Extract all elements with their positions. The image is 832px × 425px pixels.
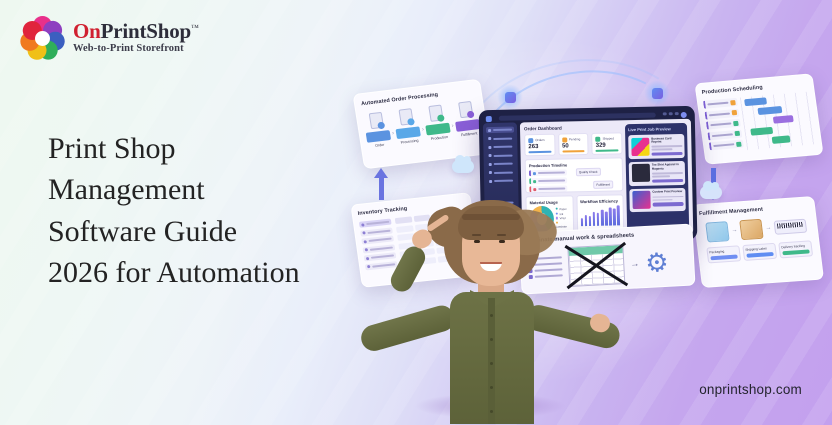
brand-name: OnPrintShop™ <box>73 21 199 42</box>
flow-step[interactable]: Order <box>363 111 392 148</box>
tag-label: Delivery tracking <box>781 244 808 250</box>
document-icon <box>368 112 383 129</box>
bullet-icon <box>361 223 364 226</box>
sidebar-item-dashboard[interactable] <box>486 127 514 134</box>
document-icon <box>458 101 473 118</box>
shipped-icon <box>596 136 601 141</box>
machine-row[interactable] <box>709 139 744 150</box>
stat-card-shipped[interactable]: Shipped 329 <box>591 132 622 155</box>
card-fulfillment-management[interactable]: Fulfillment Management → → Packaging Shi… <box>692 196 824 288</box>
machine-row[interactable] <box>704 108 739 119</box>
machine-row[interactable] <box>706 119 741 130</box>
brand-name-suffix: PrintShop <box>101 19 191 43</box>
brand-logo[interactable]: OnPrintShop™ Web-to-Print Storefront <box>20 16 199 60</box>
tag-label: Packaging <box>709 249 736 255</box>
workflow-icon <box>488 137 491 140</box>
tag-packaging[interactable]: Packaging <box>706 245 741 263</box>
orders-icon <box>528 138 533 143</box>
step-label: Processing <box>397 138 421 145</box>
brand-name-prefix: On <box>73 19 101 43</box>
left-arm <box>358 303 457 354</box>
pending-icon <box>562 137 567 142</box>
tag-shipping-label[interactable]: Shipping Label <box>742 243 777 261</box>
sidebar-item-reports[interactable] <box>487 178 515 185</box>
cap-thumb <box>632 191 650 209</box>
stat-value: 329 <box>596 142 619 148</box>
bell-icon[interactable] <box>663 112 667 116</box>
timeline-node-prepress[interactable] <box>529 170 567 177</box>
document-icon <box>398 108 413 125</box>
cloud-upload-icon <box>452 160 474 173</box>
status-chip <box>734 131 740 136</box>
status-chip <box>736 141 742 146</box>
messages-icon[interactable] <box>669 112 673 116</box>
card-title: Fulfillment Management <box>699 203 810 217</box>
step-label: Production <box>427 135 451 142</box>
stat-label: Pending <box>569 137 585 141</box>
dashboard-icon <box>488 129 491 132</box>
machine-row[interactable] <box>707 129 742 140</box>
sidebar-item-inventory[interactable] <box>487 152 515 159</box>
status-chip <box>730 100 736 105</box>
package-box-icon <box>739 219 763 240</box>
network-node-icon <box>497 84 523 110</box>
step-bar <box>395 126 420 139</box>
view-details-button[interactable] <box>652 179 683 183</box>
job-title: Custom Print Preview <box>652 190 683 194</box>
gantt-chart <box>740 92 816 150</box>
status-chip <box>733 120 739 125</box>
stat-card-pending[interactable]: Pending 50 <box>558 133 589 156</box>
settings-icon[interactable] <box>675 112 679 116</box>
step-bar <box>425 123 450 136</box>
timeline-node-printing[interactable] <box>529 178 567 185</box>
status-chip <box>732 110 738 115</box>
flow-step[interactable]: Processing <box>393 108 422 145</box>
production-icon <box>489 163 492 166</box>
barcode-icon <box>777 222 804 229</box>
box-open-icon <box>705 221 729 242</box>
headline-line-4: 2026 for Automation <box>48 252 388 293</box>
job-title: Tee Shirt Apparel in Magenta <box>652 163 683 171</box>
arrow-right-icon: → <box>765 225 772 231</box>
network-node-icon <box>644 80 670 106</box>
view-details-button[interactable] <box>652 152 683 156</box>
flow-step[interactable]: Fulfillment <box>452 100 481 137</box>
timeline-chip-quality-check[interactable]: Quality Check <box>576 168 601 177</box>
stat-value: 50 <box>562 143 585 149</box>
job-title: Business Card Reprint <box>651 137 682 145</box>
machine-row[interactable] <box>703 98 738 109</box>
site-url[interactable]: onprintshop.com <box>699 382 802 397</box>
stat-cards: Orders 263 Pending 50 Shipped 329 <box>524 132 622 156</box>
eye <box>474 240 480 243</box>
shipping-icon <box>489 171 492 174</box>
document-icon <box>428 105 443 122</box>
job-card[interactable]: Business Card Reprint <box>628 134 684 159</box>
panel-live-print-job-preview: Live Print Job Preview Business Card Rep… <box>625 123 689 231</box>
job-card[interactable]: Custom Print Preview <box>629 188 685 212</box>
headline-line-2: Management <box>48 169 388 210</box>
cmyk-artwork-thumb <box>631 137 649 155</box>
sidebar-item-orders[interactable] <box>486 144 514 151</box>
tag-label: Shipping Label <box>745 246 772 252</box>
arrow-right-icon: → <box>731 227 738 233</box>
step-bar <box>455 119 480 132</box>
flow-step[interactable]: Production <box>422 104 451 141</box>
card-production-scheduling[interactable]: Production Scheduling <box>694 73 823 165</box>
eye <box>499 240 505 243</box>
job-card[interactable]: Tee Shirt Apparel in Magenta <box>629 161 685 186</box>
reports-icon <box>489 180 492 183</box>
arrow-right-icon: → <box>630 258 640 268</box>
trademark-symbol: ™ <box>191 23 199 32</box>
view-details-button[interactable] <box>653 202 684 206</box>
brand-tagline: Web-to-Print Storefront <box>73 44 199 55</box>
flower-logo-icon <box>20 16 64 60</box>
panel-title: Production Timeline <box>529 161 619 168</box>
dashboard-title: Order Dashboard <box>524 124 622 131</box>
stat-card-orders[interactable]: Orders 263 <box>524 134 555 157</box>
tag-delivery-tracking[interactable]: Delivery tracking <box>778 240 813 258</box>
step-bar <box>366 130 391 143</box>
card-automated-order-processing[interactable]: Automated Order Processing Order › Proce… <box>352 79 491 170</box>
machine-list <box>703 98 744 153</box>
sidebar-item-shipping[interactable] <box>487 169 515 176</box>
left-forearm <box>387 243 429 296</box>
stat-value: 263 <box>528 143 551 149</box>
sidebar-item-workflows[interactable] <box>486 135 514 142</box>
avatar[interactable] <box>681 111 687 117</box>
shipping-label-icon <box>774 219 808 235</box>
sidebar-item-production[interactable] <box>487 161 515 168</box>
step-label: Fulfillment <box>457 131 481 138</box>
order-flow-steps: Order › Processing › Production › Fulfil… <box>363 100 482 148</box>
headline-line-3: Software Guide <box>48 211 388 252</box>
gear-icon: ⚙ <box>645 249 670 276</box>
panel-title: Live Print Job Preview <box>628 126 684 132</box>
cloud-download-icon <box>700 186 722 199</box>
headline-line-1: Print Shop <box>48 128 388 169</box>
stat-label: Orders <box>535 138 551 142</box>
stat-label: Shipped <box>603 136 619 140</box>
tshirt-thumb <box>631 164 649 182</box>
app-logo-icon <box>486 116 492 122</box>
page-title: Print Shop Management Software Guide 202… <box>48 128 388 294</box>
person-photo <box>366 186 616 425</box>
inventory-icon <box>489 154 492 157</box>
step-label: Order <box>368 142 392 149</box>
orders-icon <box>488 146 491 149</box>
